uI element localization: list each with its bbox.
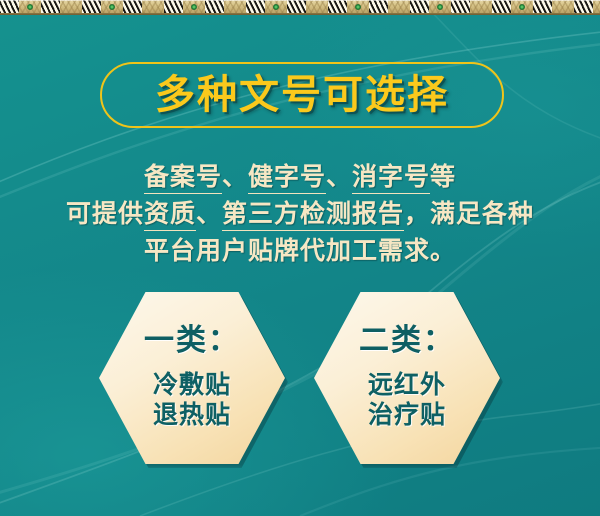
border-highlight-edge — [0, 0, 600, 1]
highlighted-term: 健字号 — [248, 162, 326, 194]
description-text: 、 — [222, 162, 248, 191]
description-line: 备案号、健字号、消字号等 — [0, 158, 600, 195]
description-block: 备案号、健字号、消字号等 可提供资质、第三方检测报告，满足各种 平台用户贴牌代加… — [0, 158, 600, 269]
description-text: 等 — [430, 162, 456, 191]
category-item: 退热贴 — [153, 400, 231, 430]
category-item: 治疗贴 — [368, 400, 446, 430]
description-text: 、 — [326, 162, 352, 191]
category-item: 冷敷贴 — [153, 370, 231, 400]
description-text: ，满足各种 — [404, 199, 534, 228]
page-title: 多种文号可选择 — [155, 75, 449, 115]
promo-banner: 多种文号可选择 备案号、健字号、消字号等 可提供资质、第三方检测报告，满足各种 … — [0, 0, 600, 516]
description-text: 、 — [196, 199, 222, 228]
highlighted-term: 资质 — [144, 199, 196, 231]
description-text: 平台用户贴牌代加工需求。 — [144, 236, 456, 265]
category-heading: 二类： — [359, 326, 455, 356]
category-heading: 一类： — [144, 326, 240, 356]
description-text: 可提供 — [66, 199, 144, 228]
highlighted-term: 备案号 — [144, 162, 222, 194]
border-shadow-edge — [0, 13, 600, 15]
description-line: 可提供资质、第三方检测报告，满足各种 — [0, 195, 600, 232]
highlighted-term: 第三方检测报告 — [222, 199, 404, 231]
title-pill-frame: 多种文号可选择 — [100, 62, 504, 128]
category-item: 远红外 — [368, 370, 446, 400]
highlighted-term: 消字号 — [352, 162, 430, 194]
ornamental-top-border — [0, 0, 600, 15]
description-line: 平台用户贴牌代加工需求。 — [0, 232, 600, 269]
